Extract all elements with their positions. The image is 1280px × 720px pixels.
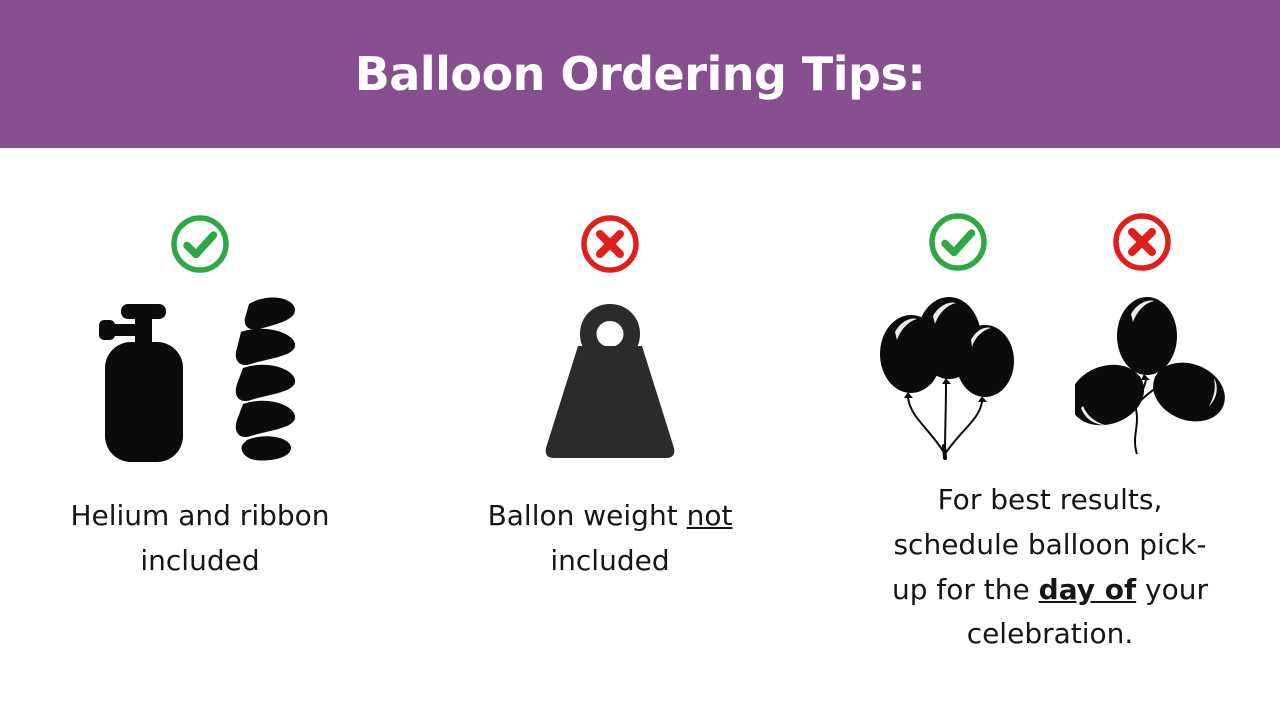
caption-line: included: [414, 539, 806, 584]
balloon-weight-art: [400, 300, 820, 464]
tip-caption-pickup-timing: For best results, schedule balloon pick-…: [820, 478, 1280, 657]
caption-line: schedule balloon pick-: [834, 523, 1266, 568]
status-marks-row: [400, 212, 820, 276]
caption-text: your: [1136, 573, 1208, 606]
tips-columns: Helium and ribbon included: [0, 148, 1280, 720]
caption-text: Ballon weight: [488, 499, 687, 532]
caption-line: up for the day of your: [834, 568, 1266, 613]
caption-line: Ballon weight not: [414, 494, 806, 539]
caption-text: up for the: [892, 573, 1039, 606]
helium-ribbon-art: [0, 294, 400, 464]
tip-caption-balloon-weight: Ballon weight not included: [400, 494, 820, 584]
caption-line: celebration.: [834, 612, 1266, 657]
balloon-condition-art: [820, 288, 1280, 462]
tip-column-helium-ribbon: Helium and ribbon included: [0, 148, 400, 584]
cross-circle-icon: [1110, 210, 1174, 274]
curly-ribbon-icon: [229, 294, 309, 464]
header-banner: Balloon Ordering Tips:: [0, 0, 1280, 148]
page-title: Balloon Ordering Tips:: [355, 51, 926, 97]
caption-emphasis-day-of: day of: [1039, 573, 1137, 606]
caption-emphasis-not: not: [687, 499, 733, 532]
tip-column-balloon-weight: Ballon weight not included: [400, 148, 820, 584]
inflated-balloons-icon: [875, 288, 1017, 462]
check-circle-icon: [926, 210, 990, 274]
tip-column-pickup-timing: For best results, schedule balloon pick-…: [820, 148, 1280, 657]
caption-line: Helium and ribbon: [14, 494, 386, 539]
cross-circle-icon: [578, 212, 642, 276]
status-marks-row: [820, 210, 1280, 274]
caption-line: included: [14, 539, 386, 584]
status-marks-row: [0, 212, 400, 276]
balloon-weight-icon: [522, 300, 698, 464]
tip-caption-helium-ribbon: Helium and ribbon included: [0, 494, 400, 584]
caption-line: For best results,: [834, 478, 1266, 523]
helium-tank-icon: [91, 294, 203, 464]
check-circle-icon: [168, 212, 232, 276]
deflated-balloons-icon: [1075, 288, 1225, 462]
